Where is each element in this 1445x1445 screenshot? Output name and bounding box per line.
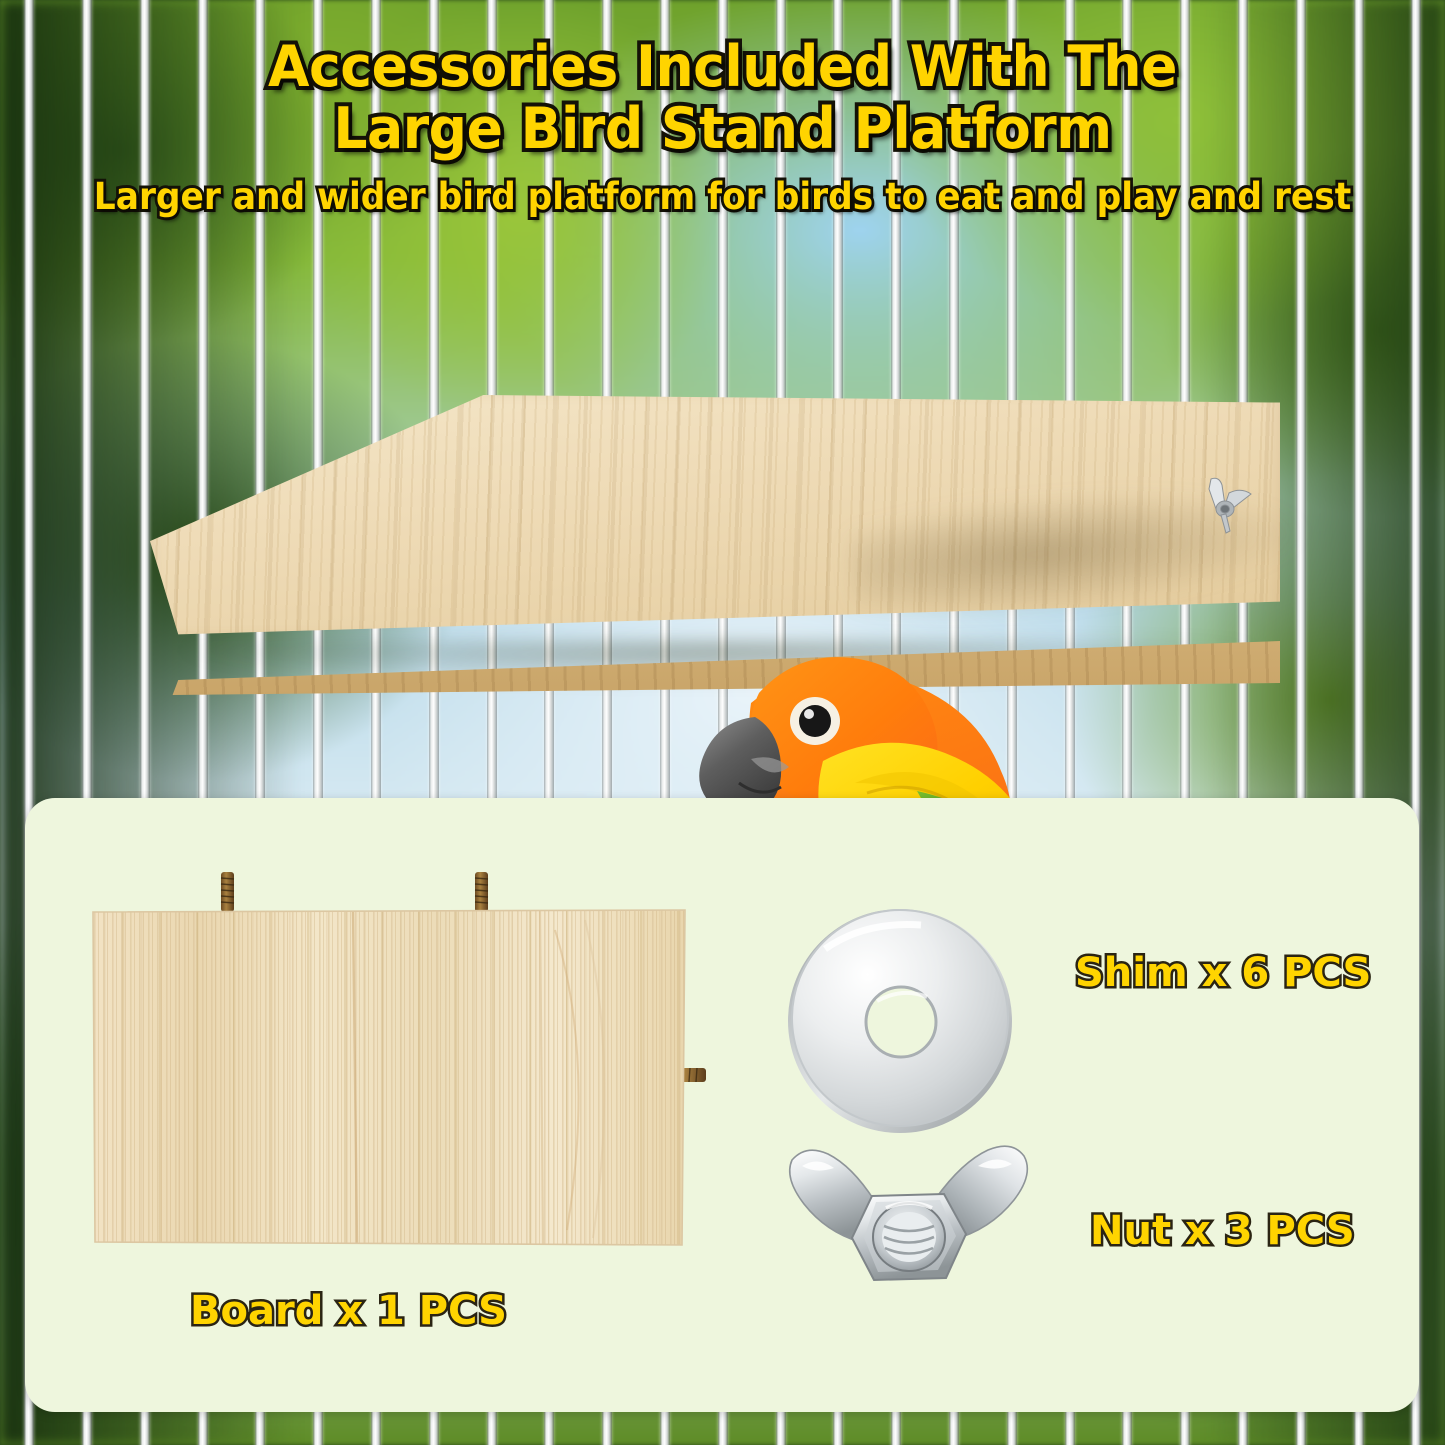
nut-label: Nut x 3 PCS bbox=[1090, 1208, 1355, 1254]
board-accessory-image bbox=[85, 870, 725, 1260]
headline-subtitle: Larger and wider bird platform for birds… bbox=[51, 176, 1395, 218]
wing-nut-accessory-image bbox=[780, 1138, 1035, 1313]
perch-wing-nut-icon bbox=[1205, 475, 1257, 535]
board-label: Board x 1 PCS bbox=[190, 1288, 507, 1334]
headline-line-1: Accessories Included With The bbox=[43, 36, 1401, 98]
shim-washer-accessory-image bbox=[785, 905, 1015, 1135]
headline-block: Accessories Included With The Large Bird… bbox=[0, 36, 1445, 218]
infographic-canvas: Accessories Included With The Large Bird… bbox=[0, 0, 1445, 1445]
shim-label: Shim x 6 PCS bbox=[1075, 950, 1371, 996]
headline-line-2: Large Bird Stand Platform bbox=[43, 98, 1401, 160]
hero-perch-assembly bbox=[150, 395, 1280, 695]
